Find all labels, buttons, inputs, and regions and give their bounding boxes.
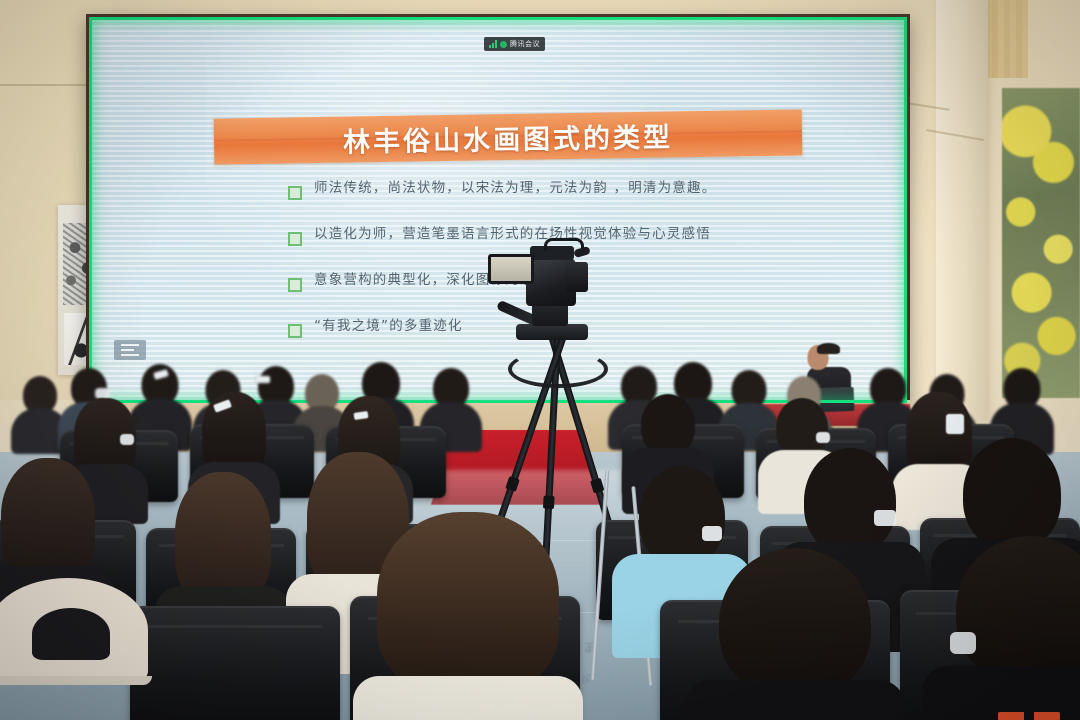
audience	[0, 0, 1080, 720]
audience-person	[368, 512, 568, 720]
shirt-graphic	[998, 712, 1060, 720]
lecture-hall-scene: 腾讯会议 林丰俗山水画图式的类型 师法传统，尚法状物，以宋法为理，元法为韵 ，明…	[0, 0, 1080, 720]
audience-person	[700, 548, 890, 720]
auditorium-chair[interactable]	[130, 606, 340, 720]
audience-person	[0, 560, 150, 720]
audience-person	[940, 536, 1080, 720]
